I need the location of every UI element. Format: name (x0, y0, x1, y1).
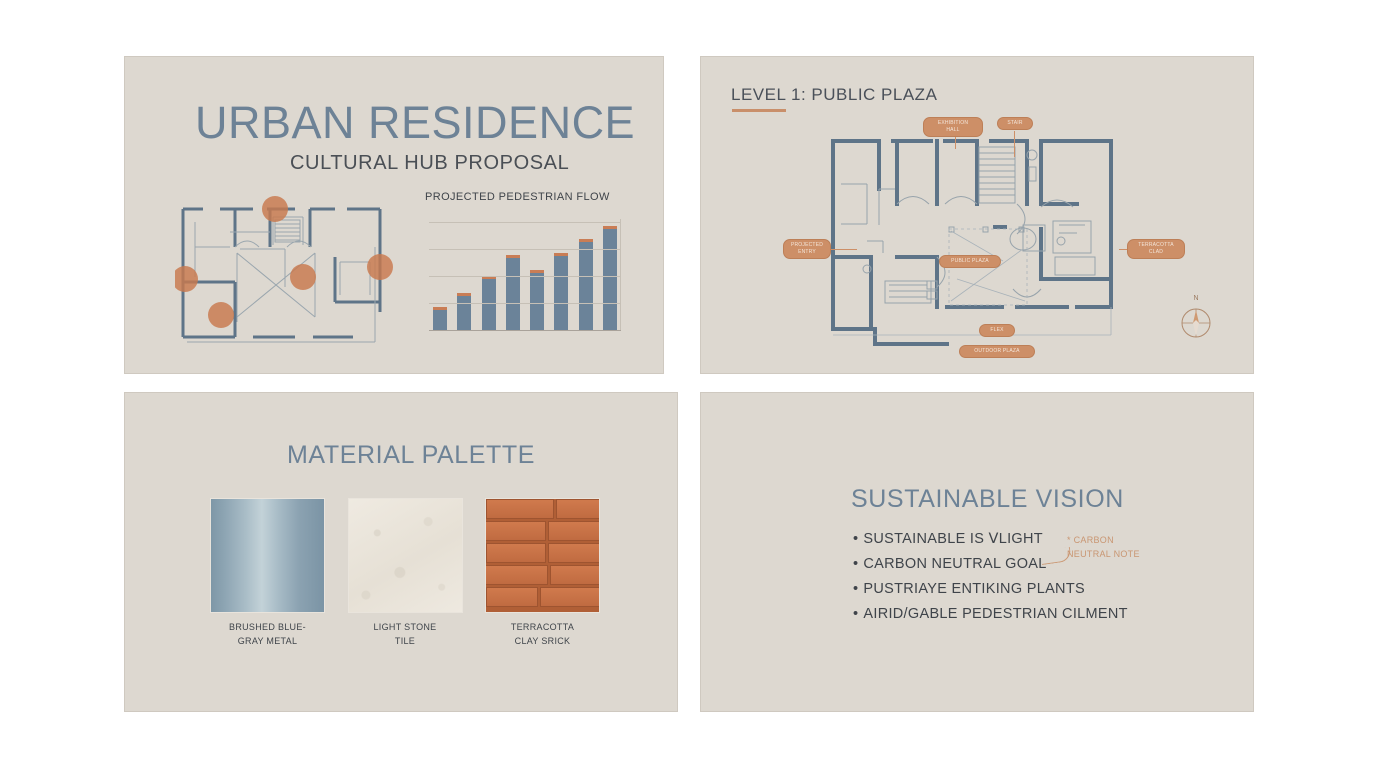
brick-unit (485, 565, 548, 585)
vision-bullet-list: •SUSTAINABLE IS ⅤLIGHT•CARBON NEUTRAL GO… (853, 531, 1213, 631)
carbon-neutral-note: * CARBON NEUTRAL NOTE (1067, 534, 1140, 561)
chart-plot-area (429, 219, 621, 331)
plan-tag-projected-entry[interactable]: PROJECTED ENTRY (783, 239, 831, 259)
level-title: LEVEL 1: PUBLIC PLAZA (731, 85, 937, 105)
compass-north-label: N (1193, 295, 1198, 302)
plan-tag-flex[interactable]: FLEX (979, 324, 1015, 337)
compass-rose-icon: N (1179, 295, 1213, 337)
plan-tag-public-plaza[interactable]: PUBLIC PLAZA (939, 255, 1001, 268)
slide-title[interactable]: URBAN RESIDENCE CULTURAL HUB PROPOSAL (124, 56, 664, 374)
chart-axis-baseline (429, 330, 621, 331)
brick-unit (486, 587, 538, 607)
chart-bar-8 (603, 226, 617, 330)
material-swatch-item[interactable]: LIGHT STONETILE (348, 498, 463, 648)
material-swatch-label: LIGHT STONETILE (348, 621, 463, 648)
chart-gridline-2 (429, 249, 621, 250)
vision-bullet-text: SUSTAINABLE IS ⅤLIGHT (863, 531, 1043, 547)
material-swatch-row: BRUSHED BLUE-GRAY METALLIGHT STONETILETE… (210, 498, 600, 648)
brick-unit (486, 543, 546, 563)
material-swatch-label: BRUSHED BLUE-GRAY METAL (210, 621, 325, 648)
slide-sustainable-vision[interactable]: SUSTAINABLE VISION •SUSTAINABLE IS ⅤLIGH… (700, 392, 1254, 712)
pedestrian-flow-chart: PROJECTED PEDESTRIAN FLOW (425, 191, 625, 346)
page-subtitle: CULTURAL HUB PROPOSAL (290, 152, 569, 175)
brick-unit (548, 543, 600, 563)
vision-bullet-item: •PUSTRIAYE ENTIKING PLANTS (853, 581, 1213, 597)
chart-gridline-0 (429, 303, 621, 304)
level-title-underline (732, 109, 786, 112)
bullet-dot-icon: • (853, 581, 858, 597)
floorplan-thumbnail-icon (175, 187, 395, 347)
plan-tag-stair[interactable]: STAIR (997, 117, 1033, 130)
chart-bar-1 (433, 307, 447, 330)
vision-bullet-text: AIRID/GABLE PEDESTRIAN CILMENT (863, 606, 1127, 622)
plan-tag-exhibition-hall[interactable]: EXHIBITION HALL (923, 117, 983, 137)
chart-bar-4 (506, 255, 520, 330)
material-swatch-item[interactable]: BRUSHED BLUE-GRAY METAL (210, 498, 325, 648)
chart-bar-6 (554, 253, 568, 330)
plan-tag-terracotta-clad[interactable]: TERRACOTTA CLAD (1127, 239, 1185, 259)
brick-unit (548, 521, 600, 541)
material-swatch-chip[interactable] (485, 498, 600, 613)
bullet-dot-icon: • (853, 531, 858, 547)
vision-title: SUSTAINABLE VISION (851, 485, 1124, 514)
slide-material-palette[interactable]: MATERIAL PALETTE BRUSHED BLUE-GRAY METAL… (124, 392, 678, 712)
chart-bar-2 (457, 293, 471, 330)
bullet-dot-icon: • (853, 556, 858, 572)
slide-floorplan[interactable]: LEVEL 1: PUBLIC PLAZA (700, 56, 1254, 374)
brick-unit (485, 521, 546, 541)
chart-bars (429, 218, 621, 330)
material-swatch-item[interactable]: TERRACOTTACLAY SRICK (485, 498, 600, 648)
bullet-dot-icon: • (853, 606, 858, 622)
palette-title: MATERIAL PALETTE (287, 441, 535, 470)
brick-unit (486, 499, 554, 519)
vision-bullet-text: CARBON NEUTRAL GOAL (863, 556, 1046, 572)
chart-bar-5 (530, 270, 544, 330)
material-swatch-chip[interactable] (210, 498, 325, 613)
chart-gridline-3 (429, 222, 621, 223)
vision-bullet-item: •AIRID/GABLE PEDESTRIAN CILMENT (853, 606, 1213, 622)
chart-bar-7 (579, 239, 593, 330)
presentation-deck: URBAN RESIDENCE CULTURAL HUB PROPOSAL (0, 0, 1376, 768)
leader-line-stair (1014, 131, 1015, 157)
page-title: URBAN RESIDENCE (195, 97, 635, 149)
vision-bullet-text: PUSTRIAYE ENTIKING PLANTS (863, 581, 1085, 597)
chart-gridline-1 (429, 276, 621, 277)
floorplan-level1-drawing (827, 129, 1117, 349)
material-swatch-chip[interactable] (348, 498, 463, 613)
material-swatch-label: TERRACOTTACLAY SRICK (485, 621, 600, 648)
vision-bullet-item: •CARBON NEUTRAL GOAL (853, 556, 1213, 572)
brick-unit (556, 499, 600, 519)
brick-unit (550, 565, 600, 585)
plan-tag-outdoor-plaza[interactable]: OUTDOOR PLAZA (959, 345, 1035, 358)
brick-unit (540, 587, 600, 607)
chart-title: PROJECTED PEDESTRIAN FLOW (425, 191, 610, 203)
vision-bullet-item: •SUSTAINABLE IS ⅤLIGHT (853, 531, 1213, 547)
